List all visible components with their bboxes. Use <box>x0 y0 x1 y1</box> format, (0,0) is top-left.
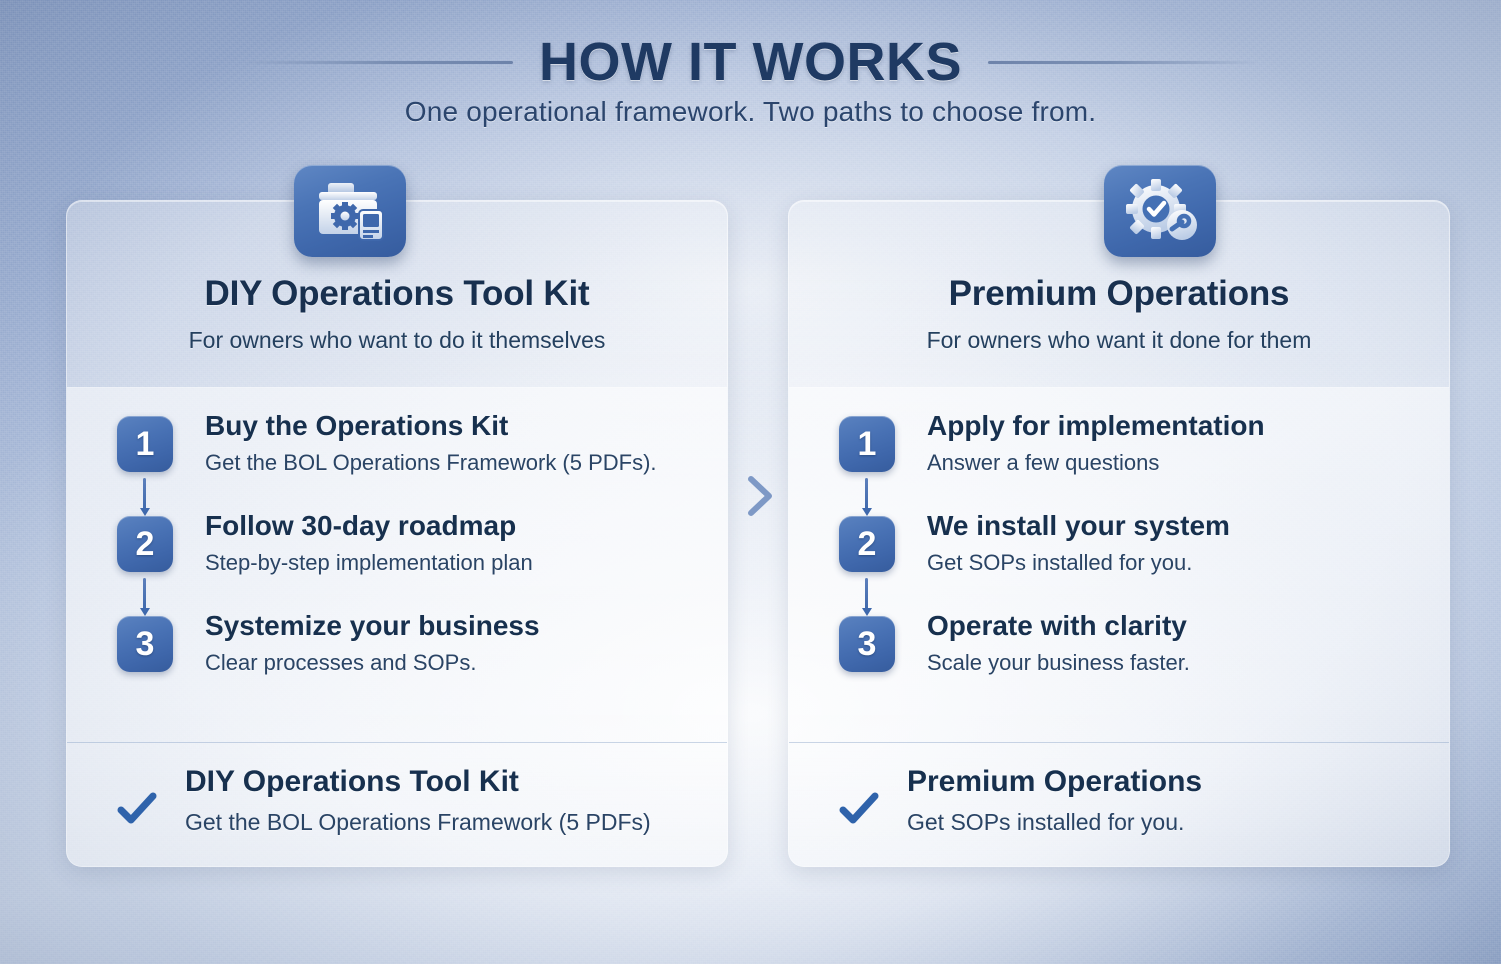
card-premium-footer: Premium Operations Get SOPs installed fo… <box>789 742 1449 867</box>
page-header: HOW IT WORKS <box>0 28 1501 96</box>
step-number-badge: 3 <box>839 616 895 672</box>
step-number-badge: 1 <box>839 416 895 472</box>
step-title: Follow 30-day roadmap <box>205 510 516 542</box>
step-description: Answer a few questions <box>927 450 1159 476</box>
card-diy[interactable]: DIY Operations Tool Kit For owners who w… <box>66 200 728 867</box>
title-rule-right-icon <box>988 61 1260 64</box>
step-connector-arrow-icon <box>143 578 146 610</box>
footer-description: Get SOPs installed for you. <box>907 809 1184 836</box>
folder-gear-icon <box>294 165 406 257</box>
step-item: 2 We install your system Get SOPs instal… <box>839 510 1425 610</box>
check-icon <box>117 789 157 829</box>
step-number-badge: 1 <box>117 416 173 472</box>
page-title: HOW IT WORKS <box>539 35 962 89</box>
step-item: 1 Buy the Operations Kit Get the BOL Ope… <box>117 410 703 510</box>
step-title: We install your system <box>927 510 1230 542</box>
step-number-badge: 2 <box>117 516 173 572</box>
step-title: Buy the Operations Kit <box>205 410 508 442</box>
step-connector-arrow-icon <box>143 478 146 510</box>
footer-description: Get the BOL Operations Framework (5 PDFs… <box>185 809 651 836</box>
card-premium-steps: 1 Apply for implementation Answer a few … <box>789 388 1449 742</box>
step-title: Apply for implementation <box>927 410 1265 442</box>
step-item: 3 Systemize your business Clear processe… <box>117 610 703 710</box>
footer-title: Premium Operations <box>907 765 1202 799</box>
step-description: Step-by-step implementation plan <box>205 550 533 576</box>
chevron-right-icon <box>738 472 782 520</box>
step-description: Get the BOL Operations Framework (5 PDFs… <box>205 450 657 476</box>
page-subtitle: One operational framework. Two paths to … <box>0 96 1501 128</box>
step-connector-arrow-icon <box>865 478 868 510</box>
card-premium-title: Premium Operations <box>789 274 1449 314</box>
step-description: Clear processes and SOPs. <box>205 650 476 676</box>
gear-check-wrench-icon <box>1104 165 1216 257</box>
step-number-badge: 3 <box>117 616 173 672</box>
title-rule-left-icon <box>241 61 513 64</box>
step-connector-arrow-icon <box>865 578 868 610</box>
footer-title: DIY Operations Tool Kit <box>185 765 519 799</box>
check-icon <box>839 789 879 829</box>
step-item: 3 Operate with clarity Scale your busine… <box>839 610 1425 710</box>
card-diy-subtitle: For owners who want to do it themselves <box>67 327 727 354</box>
card-diy-footer: DIY Operations Tool Kit Get the BOL Oper… <box>67 742 727 867</box>
step-item: 1 Apply for implementation Answer a few … <box>839 410 1425 510</box>
card-diy-title: DIY Operations Tool Kit <box>67 274 727 314</box>
step-title: Operate with clarity <box>927 610 1187 642</box>
card-diy-steps: 1 Buy the Operations Kit Get the BOL Ope… <box>67 388 727 742</box>
card-premium[interactable]: Premium Operations For owners who want i… <box>788 200 1450 867</box>
step-item: 2 Follow 30-day roadmap Step-by-step imp… <box>117 510 703 610</box>
step-description: Get SOPs installed for you. <box>927 550 1192 576</box>
step-description: Scale your business faster. <box>927 650 1190 676</box>
card-premium-subtitle: For owners who want it done for them <box>789 327 1449 354</box>
step-title: Systemize your business <box>205 610 540 642</box>
step-number-badge: 2 <box>839 516 895 572</box>
